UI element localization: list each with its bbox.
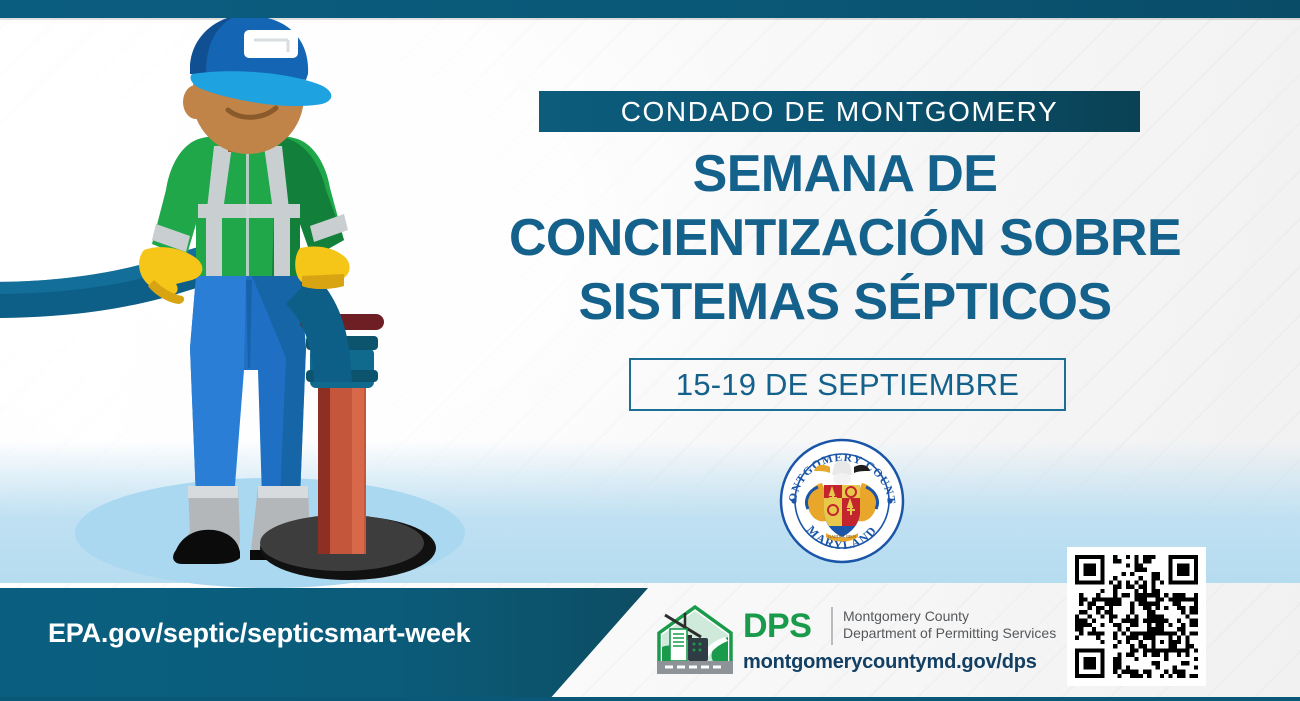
title-line-1: SEMANA DE xyxy=(400,142,1290,206)
dps-url[interactable]: montgomerycountymd.gov/dps xyxy=(743,651,1037,674)
window-3 xyxy=(693,649,696,652)
qr-code-panel[interactable] xyxy=(1067,547,1206,686)
boot-right-cuff xyxy=(258,486,308,498)
window-4 xyxy=(699,649,702,652)
dps-divider xyxy=(831,607,833,645)
dps-org-line-1: Montgomery County xyxy=(843,608,1056,625)
window-1 xyxy=(693,643,696,646)
window-2 xyxy=(699,643,702,646)
date-range-box: 15-19 DE SEPTIEMBRE xyxy=(629,358,1066,411)
seal-motto-text: GARDEZ BIEN xyxy=(828,534,856,539)
seal-helm-face xyxy=(833,473,851,485)
bottom-frame-bar xyxy=(0,697,1300,701)
cap-patch xyxy=(244,30,298,58)
glove-right-fingers xyxy=(302,274,344,289)
montgomery-county-seal: MONTGOMERY COUNTY MARYLAND 17 76 GARDEZ … xyxy=(778,437,906,565)
top-frame-bar xyxy=(0,0,1300,18)
eyebrow-badge-label: CONDADO DE MONTGOMERY xyxy=(621,96,1059,128)
title-line-3: SISTEMAS SÉPTICOS xyxy=(400,270,1290,334)
epa-url-label[interactable]: EPA.gov/septic/septicsmart-week xyxy=(48,618,470,649)
dps-org-name: Montgomery County Department of Permitti… xyxy=(843,608,1056,642)
dps-logo-lockup[interactable]: DPS Montgomery County Department of Perm… xyxy=(655,601,1045,685)
dps-acronym: DPS xyxy=(743,609,811,643)
building-dark xyxy=(688,638,708,661)
dps-house-icon xyxy=(655,603,735,679)
riser-pipe-highlight xyxy=(352,378,364,554)
date-range-label: 15-19 DE SEPTIEMBRE xyxy=(676,367,1019,403)
jacket-zipper xyxy=(246,142,249,276)
jeans-left-highlight xyxy=(190,276,246,498)
boot-left-cuff xyxy=(188,486,238,498)
title-line-2: CONCIENTIZACIÓN SOBRE xyxy=(400,206,1290,270)
qr-code[interactable] xyxy=(1075,555,1198,678)
dps-org-line-2: Department of Permitting Services xyxy=(843,625,1056,642)
eyebrow-badge: CONDADO DE MONTGOMERY xyxy=(539,91,1140,132)
poster-canvas: CONDADO DE MONTGOMERY SEMANA DE CONCIENT… xyxy=(0,0,1300,701)
riser-pipe-shade xyxy=(318,378,330,554)
page-title: SEMANA DE CONCIENTIZACIÓN SOBRE SISTEMAS… xyxy=(400,142,1290,334)
